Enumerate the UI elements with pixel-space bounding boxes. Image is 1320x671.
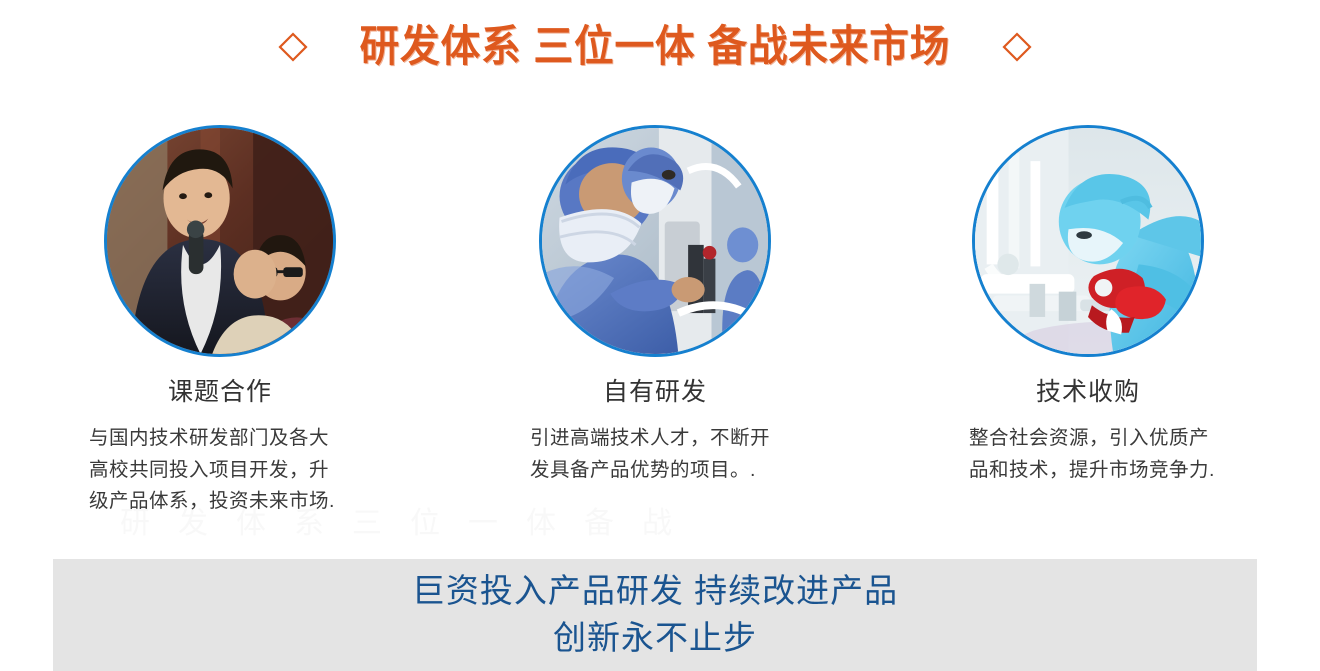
card-description: 整合社会资源，引入优质产品和技术，提升市场竞争力. (969, 423, 1219, 486)
page-title: 研发体系 三位一体 备战未来市场 (360, 26, 951, 69)
card-description: 与国内技术研发部门及各大高校共同投入项目开发，升级产品体系，投资未来市场. (89, 423, 339, 518)
page-title-row: 研发体系 三位一体 备战未来市场 (0, 16, 1310, 78)
card-title: 技术收购 (933, 377, 1243, 407)
card-photo-frame (104, 125, 336, 357)
feature-card-list: 课题合作 与国内技术研发部门及各大高校共同投入项目开发，升级产品体系，投资未来市… (0, 120, 1320, 540)
footer-line-2: 创新永不止步 (553, 615, 757, 662)
card-title: 自有研发 (500, 377, 810, 407)
technician-inspecting-machinery-photo (975, 128, 1201, 354)
card-title: 课题合作 (65, 377, 375, 407)
diamond-outline-icon-left (278, 32, 308, 62)
card-description: 引进高端技术人才，不断开发具备产品优势的项目。. (530, 423, 780, 486)
diamond-outline-icon-right (1002, 32, 1032, 62)
cleanroom-workers-photo (542, 128, 768, 354)
card-photo-frame (972, 125, 1204, 357)
card-photo-frame (539, 125, 771, 357)
feature-card-in-house-rnd: 自有研发 引进高端技术人才，不断开发具备产品优势的项目。. (500, 120, 810, 486)
footer-line-1: 巨资投入产品研发 持续改进产品 (412, 568, 898, 615)
feature-card-topic-cooperation: 课题合作 与国内技术研发部门及各大高校共同投入项目开发，升级产品体系，投资未来市… (65, 120, 375, 518)
conference-speaker-photo (107, 128, 333, 354)
footer-banner: 巨资投入产品研发 持续改进产品 创新永不止步 (53, 559, 1257, 671)
feature-card-technology-acquisition: 技术收购 整合社会资源，引入优质产品和技术，提升市场竞争力. (933, 120, 1243, 486)
